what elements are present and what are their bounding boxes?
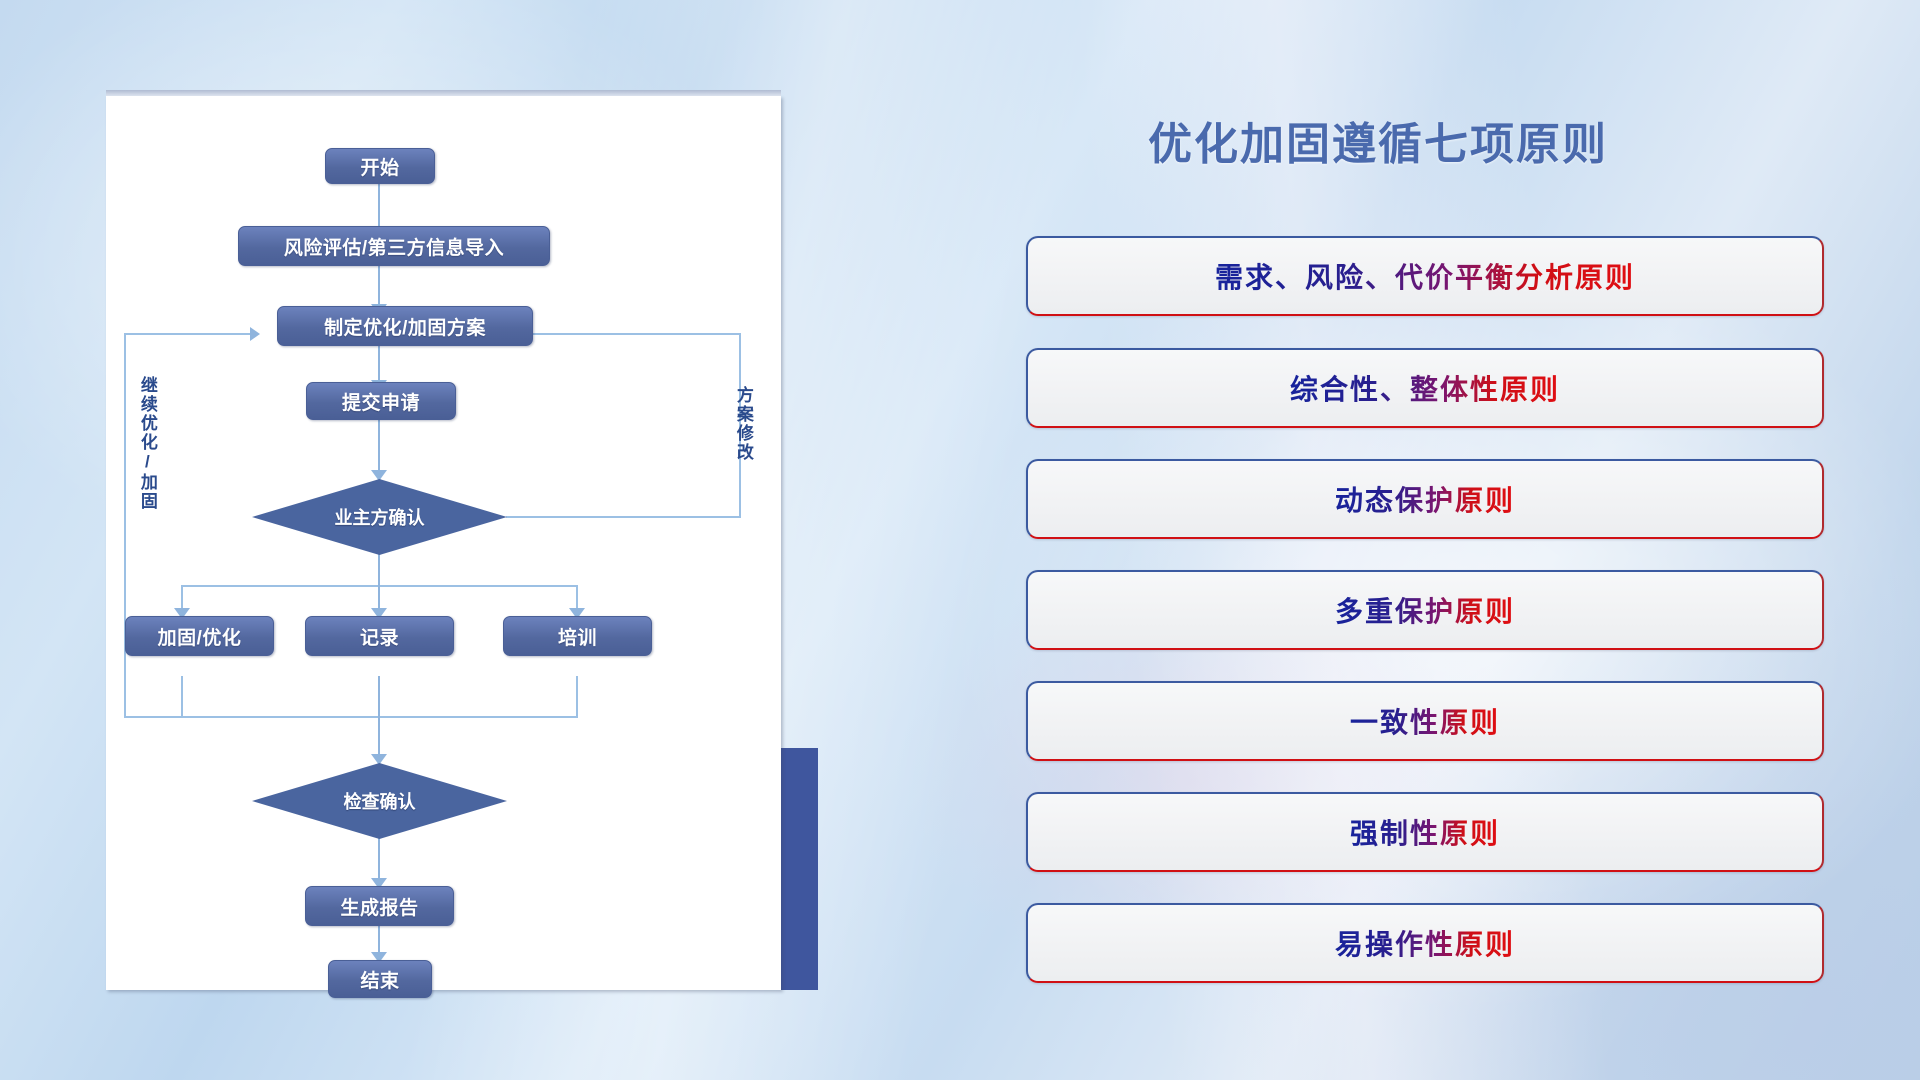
flow-node-report-label: 生成报告	[340, 893, 418, 920]
principle-card-3-label: 动态保护原则	[1335, 479, 1515, 519]
principle-card-3[interactable]: 动态保护原则	[1026, 459, 1824, 539]
principle-card-2-label: 综合性、整体性原则	[1290, 368, 1560, 408]
flow-node-owner-confirm[interactable]: 业主方确认	[252, 479, 507, 555]
flow-node-risk-assessment-label: 风险评估/第三方信息导入	[284, 233, 504, 260]
flow-node-plan[interactable]: 制定优化/加固方案	[277, 306, 533, 346]
principle-card-4-label: 多重保护原则	[1335, 590, 1515, 630]
flow-node-inspection-confirm-label: 检查确认	[344, 788, 416, 814]
flow-node-end[interactable]: 结束	[328, 960, 432, 998]
principle-card-4[interactable]: 多重保护原则	[1026, 570, 1824, 650]
principle-card-6-label: 强制性原则	[1350, 812, 1500, 852]
flow-node-owner-confirm-label: 业主方确认	[335, 504, 425, 530]
flow-node-inspection-confirm-label-wrap: 检查确认	[252, 763, 507, 839]
principles-panel: 优化加固遵循七项原则 需求、风险、代价平衡分析原则 综合性、整体性原则 动态保护…	[1020, 0, 1880, 1080]
connector-left-up	[124, 333, 126, 718]
edge-label-plan-revision-text: 方案修改	[734, 386, 753, 462]
flow-node-reinforce[interactable]: 加固/优化	[125, 616, 274, 656]
page-title: 优化加固遵循七项原则	[1148, 108, 1848, 172]
principle-card-5[interactable]: 一致性原则	[1026, 681, 1824, 761]
principle-card-1-label: 需求、风险、代价平衡分析原则	[1215, 256, 1635, 296]
flow-node-end-label: 结束	[360, 966, 399, 993]
edge-label-continue-optimize: 继续优化/加固	[138, 376, 156, 511]
flow-node-start[interactable]: 开始	[325, 148, 435, 184]
flowchart-paper: 开始 风险评估/第三方信息导入 制定优化/加固方案 提交申请 业主方确认 加固/…	[106, 96, 781, 990]
flow-node-training[interactable]: 培训	[503, 616, 652, 656]
edge-label-plan-revision: 方案修改	[734, 386, 752, 462]
arrowhead-plan-from-left	[250, 327, 260, 341]
flow-node-report[interactable]: 生成报告	[305, 886, 454, 926]
flow-node-owner-confirm-label-wrap: 业主方确认	[252, 479, 507, 555]
flow-node-record[interactable]: 记录	[305, 616, 454, 656]
connector-owner-right	[506, 516, 741, 518]
connector-submit-to-owner	[378, 416, 380, 478]
connector-training-down	[576, 676, 578, 718]
flow-node-plan-label: 制定优化/加固方案	[324, 313, 486, 340]
flow-node-inspection-confirm[interactable]: 检查确认	[252, 763, 507, 839]
flow-node-reinforce-label: 加固/优化	[158, 623, 242, 650]
principle-card-1[interactable]: 需求、风险、代价平衡分析原则	[1026, 236, 1824, 316]
principle-card-7[interactable]: 易操作性原则	[1026, 903, 1824, 983]
principle-card-5-label: 一致性原则	[1350, 701, 1500, 741]
connector-right-to-plan	[508, 333, 741, 335]
principle-card-6[interactable]: 强制性原则	[1026, 792, 1824, 872]
principle-card-7-label: 易操作性原则	[1335, 923, 1515, 963]
connector-record-to-check	[378, 676, 380, 762]
flow-node-submit[interactable]: 提交申请	[306, 382, 456, 420]
flow-node-risk-assessment[interactable]: 风险评估/第三方信息导入	[238, 226, 550, 266]
edge-label-continue-optimize-text: 继续优化/加固	[138, 376, 157, 511]
flow-node-record-label: 记录	[360, 623, 399, 650]
principle-card-2[interactable]: 综合性、整体性原则	[1026, 348, 1824, 428]
flow-node-submit-label: 提交申请	[342, 388, 420, 415]
connector-left-to-plan	[124, 333, 252, 335]
connector-reinforce-down	[181, 676, 183, 718]
flow-node-training-label: 培训	[558, 623, 597, 650]
connector-owner-down	[378, 554, 380, 586]
flow-node-start-label: 开始	[360, 153, 399, 180]
